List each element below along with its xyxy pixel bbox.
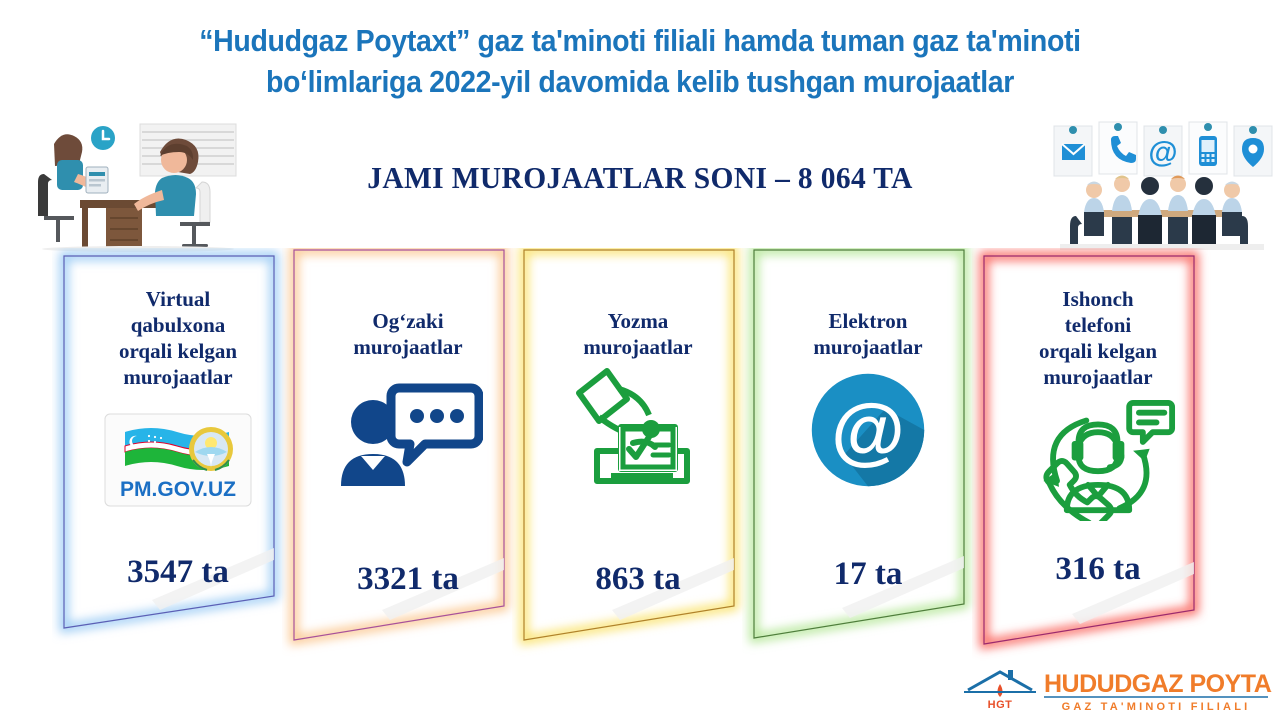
- svg-text:@: @: [831, 389, 905, 473]
- office-consultation-illustration: [22, 112, 254, 252]
- card-title: Virtual qabulxona orqali kelgan murojaat…: [119, 286, 237, 390]
- logo-sub-text: GAZ TA'MINOTI FILIALI: [1062, 701, 1251, 713]
- pm-gov-uz-logo-icon: PM.GOV.UZ: [103, 400, 253, 520]
- stat-card-electronic-appeals[interactable]: Elektron murojaatlar @ 17 ta: [742, 248, 994, 688]
- at-sign-circle-icon: @: [805, 370, 931, 490]
- card-content: Elektron murojaatlar @ 17 ta: [764, 256, 972, 586]
- card-value: 3547 ta: [74, 554, 282, 591]
- svg-text:@: @: [1148, 136, 1177, 169]
- card-content: Ishonch telefoni orqali kelgan murojaatl…: [994, 256, 1202, 586]
- stat-cards-container: Virtual qabulxona orqali kelgan murojaat…: [0, 248, 1280, 688]
- person-speech-bubble-icon: [333, 370, 483, 490]
- stat-card-written-appeals[interactable]: Yozma murojaatlar: [512, 248, 764, 688]
- pm-gov-uz-label: PM.GOV.UZ: [120, 478, 236, 501]
- card-title: Og‘zaki murojaatlar: [353, 308, 462, 360]
- card-value: 863 ta: [534, 561, 742, 598]
- card-content: Yozma murojaatlar: [534, 256, 742, 586]
- card-title: Elektron murojaatlar: [813, 308, 922, 360]
- card-content: Og‘zaki murojaatlar 3321 ta: [304, 256, 512, 586]
- card-title: Yozma murojaatlar: [583, 308, 692, 360]
- page-title-line-1: “Hududgaz Poytaxt” gaz ta'minoti filiali…: [199, 23, 1080, 58]
- stat-card-virtual-reception[interactable]: Virtual qabulxona orqali kelgan murojaat…: [52, 248, 304, 688]
- stat-card-verbal-appeals[interactable]: Og‘zaki murojaatlar 3321 ta: [282, 248, 534, 688]
- page-title: “Hududgaz Poytaxt” gaz ta'minoti filiali…: [51, 20, 1229, 102]
- card-title: Ishonch telefoni orqali kelgan murojaatl…: [1039, 286, 1157, 390]
- hgt-mark-label: HGT: [988, 699, 1013, 711]
- call-center-headset-icon: [1020, 400, 1176, 520]
- stat-card-hotline-appeals[interactable]: Ishonch telefoni orqali kelgan murojaatl…: [972, 248, 1224, 688]
- card-value: 316 ta: [994, 551, 1202, 588]
- ballot-box-hand-icon: [563, 370, 713, 490]
- card-value: 3321 ta: [304, 561, 512, 598]
- card-content: Virtual qabulxona orqali kelgan murojaat…: [74, 256, 282, 586]
- page-title-line-2: bo‘limlariga 2022-yil davomida kelib tus…: [51, 61, 1229, 102]
- contact-channels-meeting-illustration: @: [1042, 112, 1280, 252]
- card-value: 17 ta: [764, 556, 972, 593]
